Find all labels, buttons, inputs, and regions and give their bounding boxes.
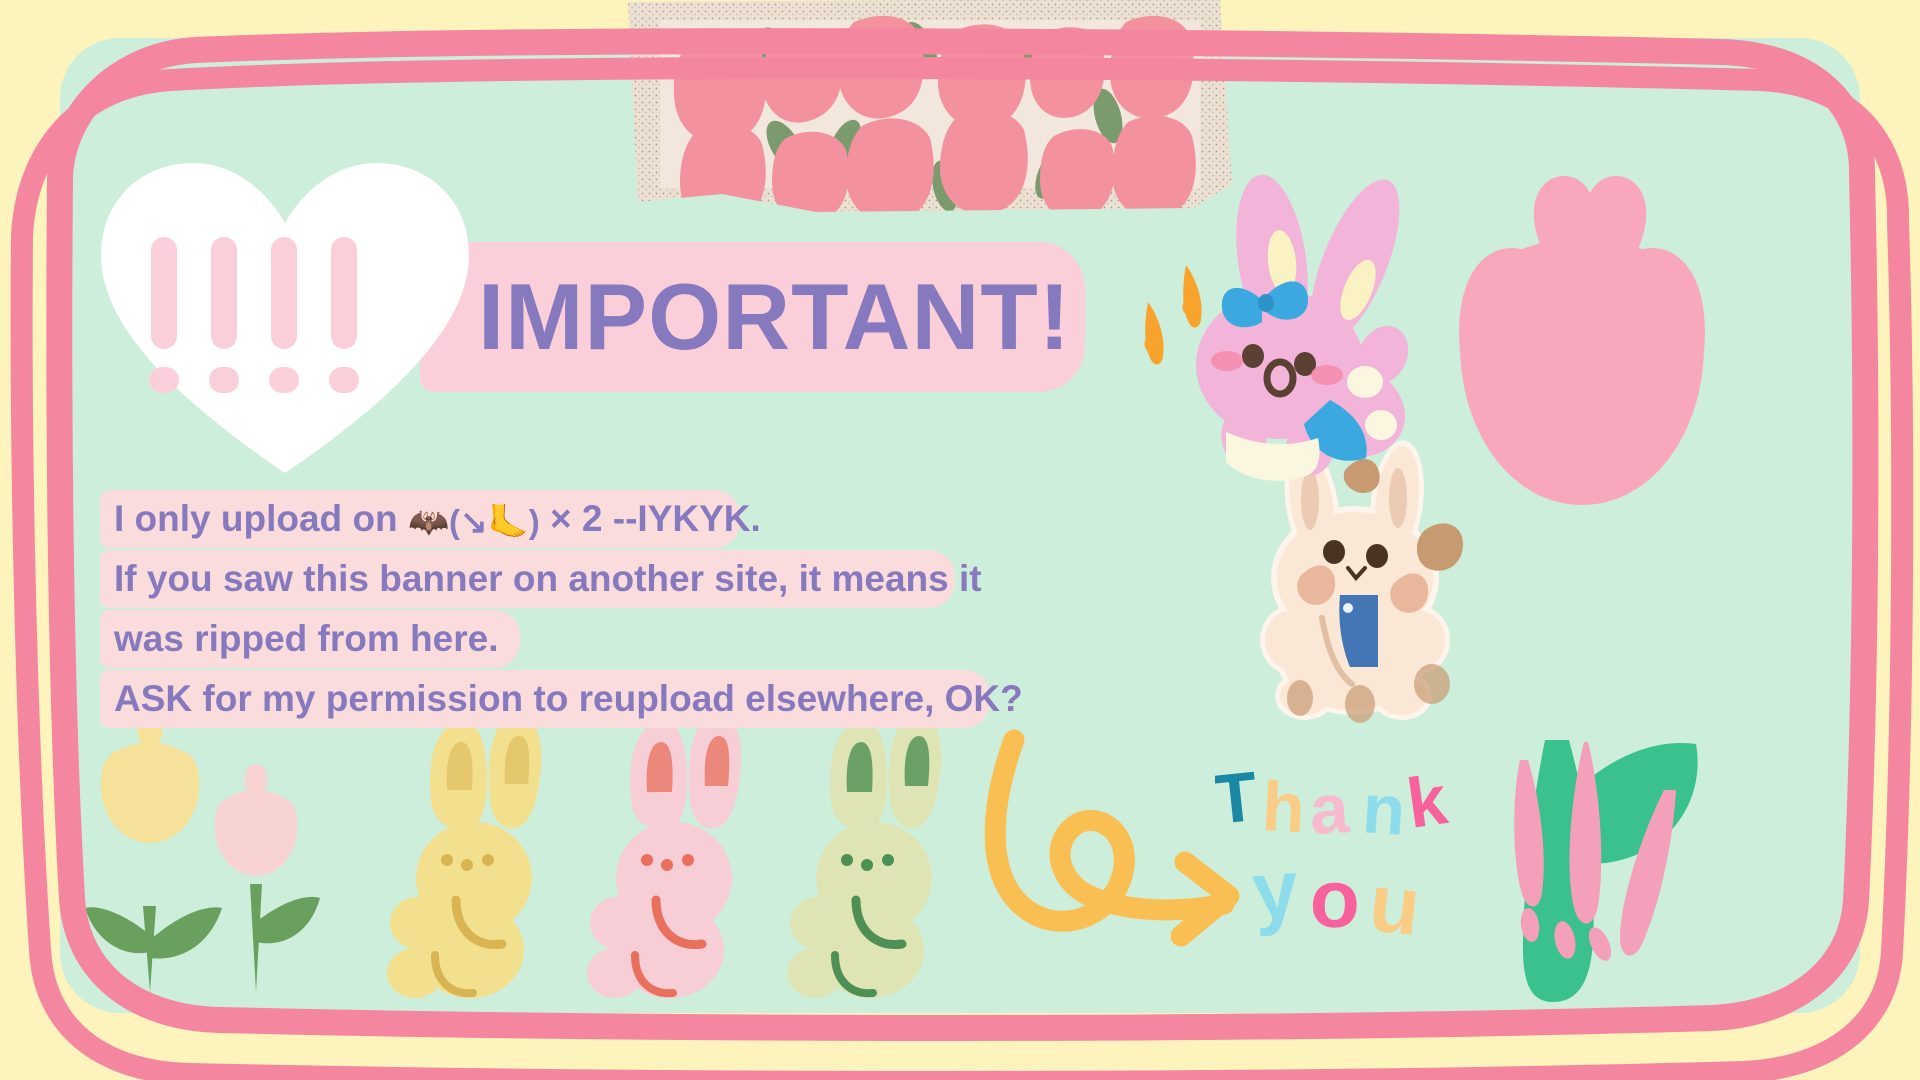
thankyou-letter-u: u xyxy=(1365,857,1424,953)
thank-you-lettering: T h a n k y o u xyxy=(1215,760,1515,955)
message-line-text: was ripped from here. xyxy=(100,610,513,668)
banner-canvas: IMPORTANT! I only upload on 🦇(↘🦶) × 2 --… xyxy=(0,0,1920,1080)
washi-tape-tulips xyxy=(620,0,1240,214)
thankyou-letter-n: n xyxy=(1360,769,1408,850)
thankyou-letter-T: T xyxy=(1215,760,1261,839)
message-line-text: ASK for my permission to reupload elsewh… xyxy=(100,670,1037,728)
message-line: If you saw this banner on another site, … xyxy=(100,550,1037,608)
message-line: was ripped from here. xyxy=(100,610,1037,668)
page-title: IMPORTANT! xyxy=(478,262,1071,372)
gummy-bunny-yellow-icon xyxy=(387,716,541,998)
message-block: I only upload on 🦇(↘🦶) × 2 --IYKYK. If y… xyxy=(100,490,1037,730)
white-heart-icon xyxy=(95,155,475,485)
thankyou-letter-y: y xyxy=(1249,843,1303,938)
thankyou-letter-h: h xyxy=(1260,767,1307,847)
cream-bunny-with-phone-icon xyxy=(1260,437,1463,723)
pink-flying-bunny-icon xyxy=(1145,168,1418,480)
thankyou-letter-a: a xyxy=(1308,769,1352,849)
small-tulip-yellow-icon xyxy=(85,712,222,992)
curly-arrow-icon xyxy=(995,740,1229,936)
message-line: I only upload on 🦇(↘🦶) × 2 --IYKYK. xyxy=(100,490,1037,548)
message-line-text: If you saw this banner on another site, … xyxy=(100,550,996,608)
gummy-bunny-pink-icon xyxy=(587,716,741,998)
thankyou-letter-o: o xyxy=(1308,853,1361,946)
message-line: ASK for my permission to reupload elsewh… xyxy=(100,670,1037,728)
thankyou-letter-k: k xyxy=(1402,760,1451,843)
small-tulip-pink-icon xyxy=(215,764,320,992)
message-line-text: I only upload on 🦇(↘🦶) × 2 --IYKYK. xyxy=(100,490,775,551)
gummy-bunny-green-icon xyxy=(787,716,941,998)
